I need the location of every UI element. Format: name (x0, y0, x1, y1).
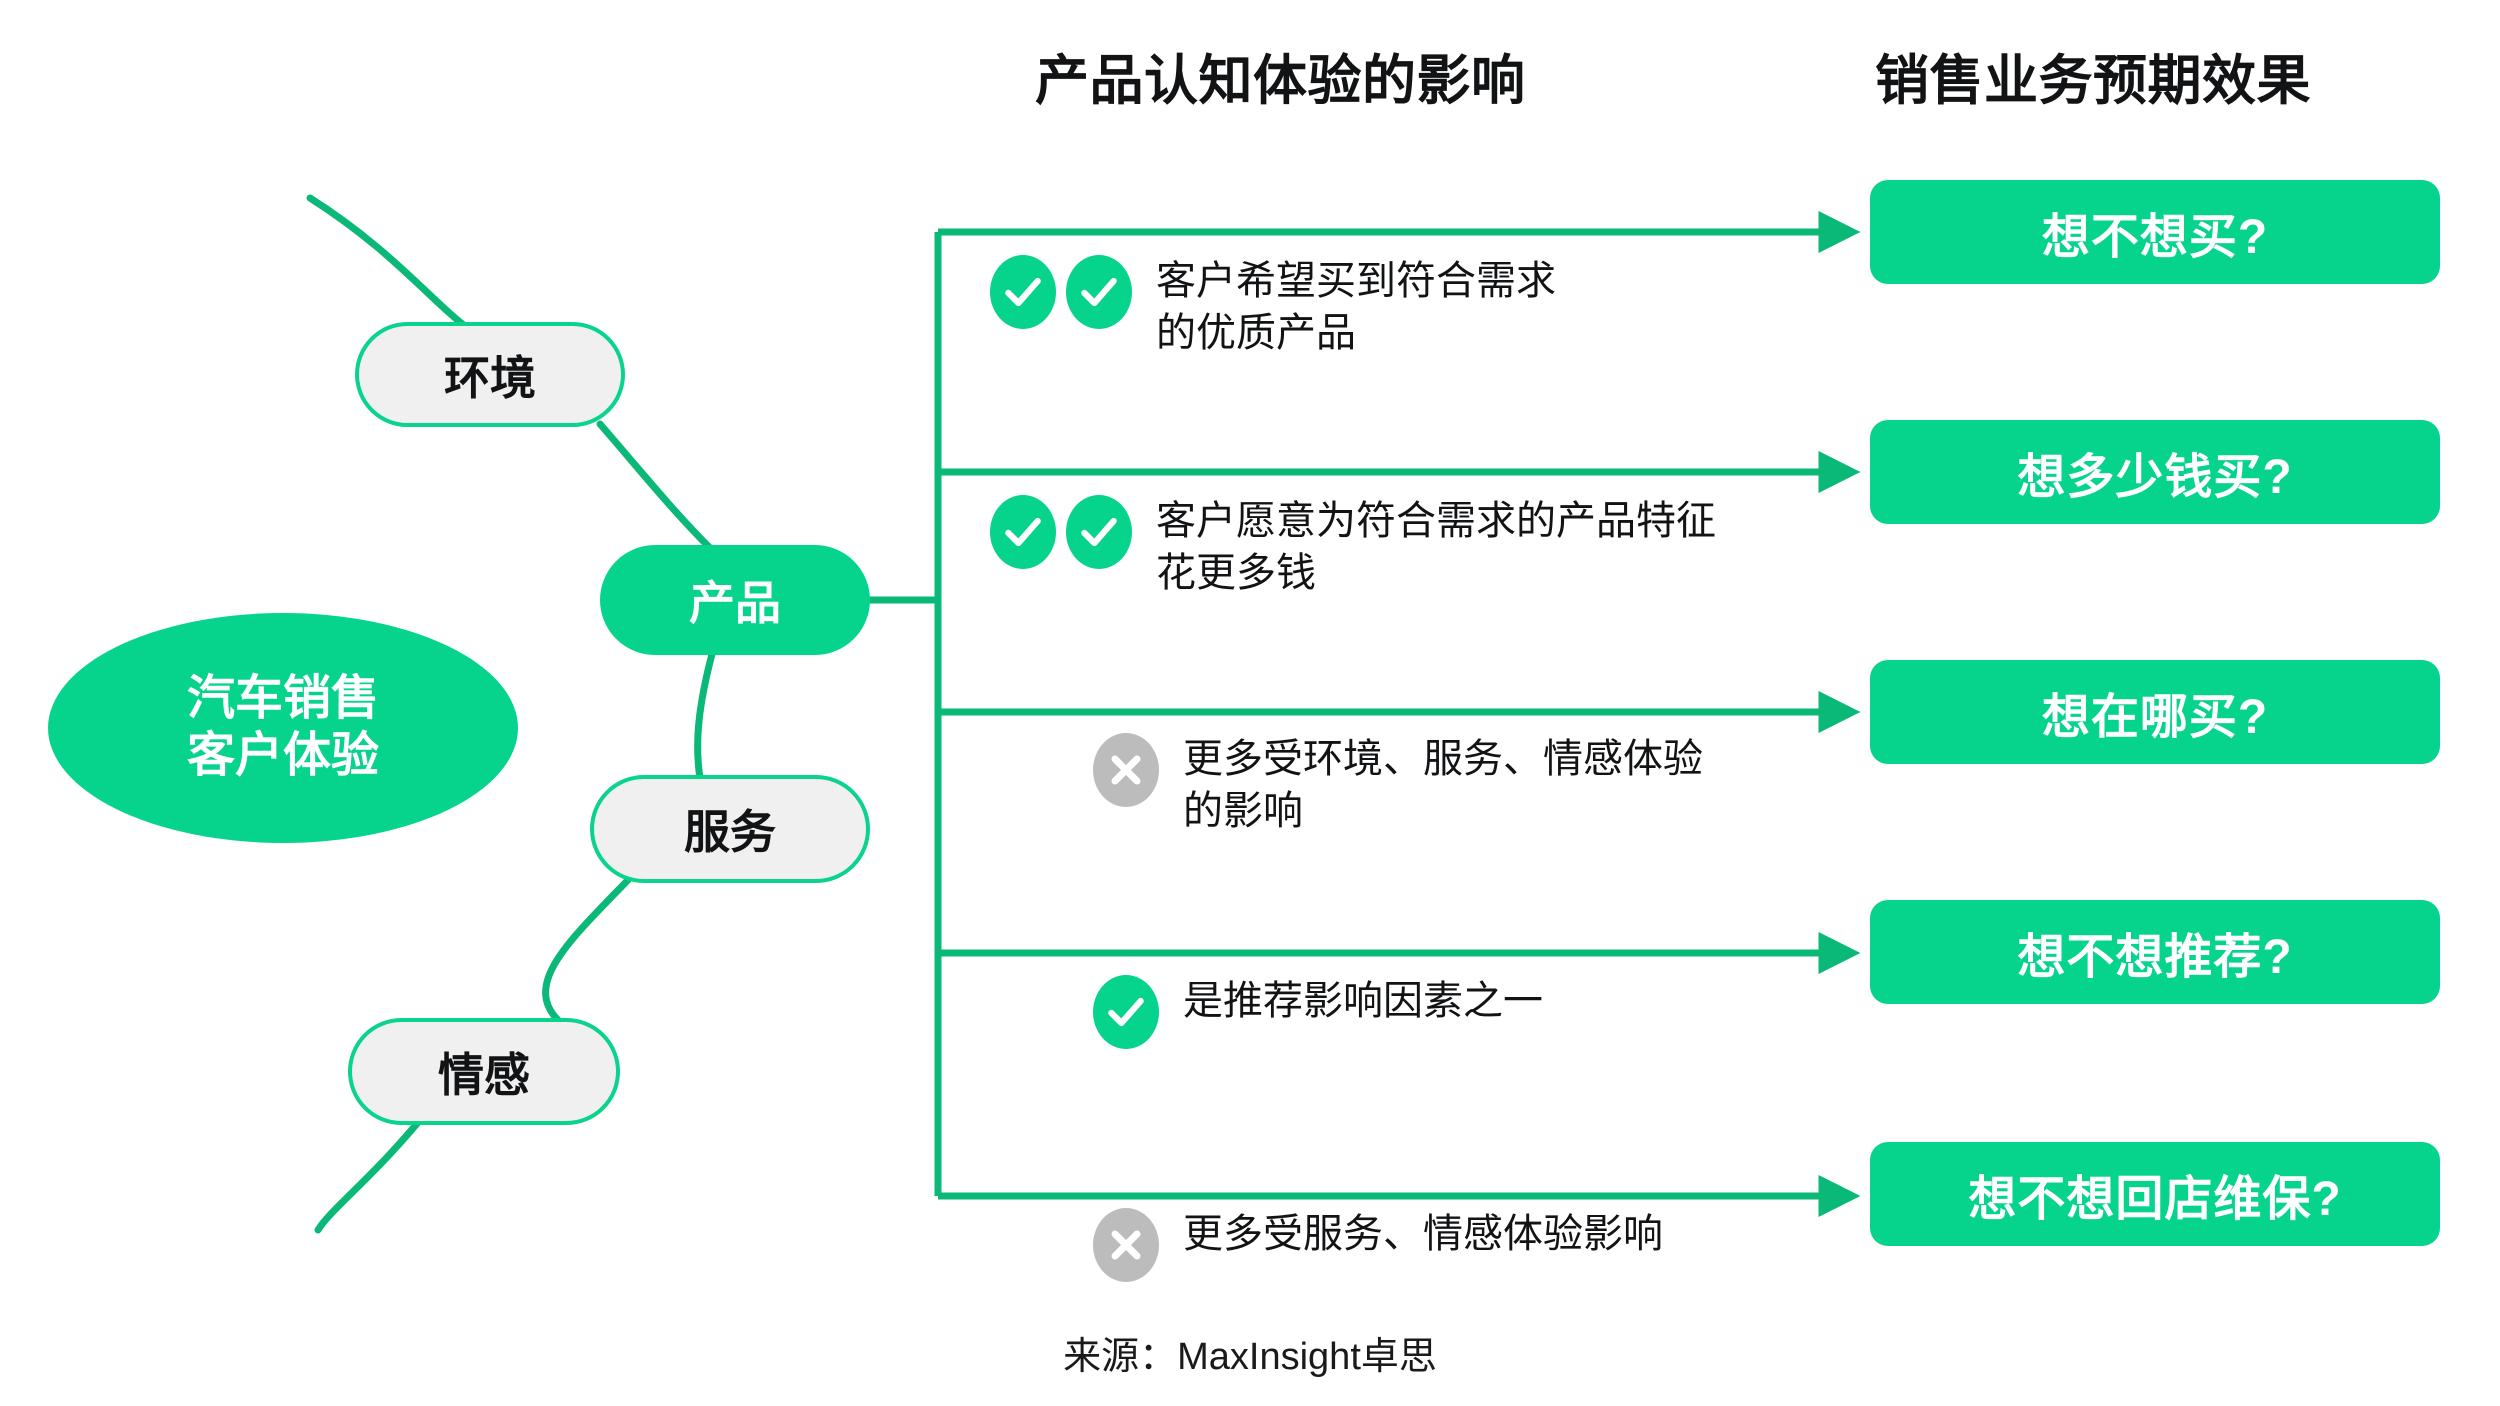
branch-node-label: 服务 (684, 796, 776, 862)
outcome-button-label: 想多少钱买? (2017, 437, 2292, 507)
impact-row-text: 客户希望买到符合需求 的优质产品 (1156, 255, 1556, 359)
branch-node-qinggan[interactable]: 情感 (348, 1018, 620, 1125)
outcome-button-want-to-buy[interactable]: 想不想买? (1870, 180, 2440, 284)
impact-row-icons (1093, 975, 1169, 1049)
outcome-button-recommend[interactable]: 想不想推荐? (1870, 900, 2440, 1004)
root-node-auto-sales-cx[interactable]: 汽车销售 客户体验 (48, 613, 518, 843)
impact-row-icons (990, 495, 1142, 569)
column-header-impact: 产品认知体验的影响 (1035, 36, 1526, 115)
impact-row: 更多受环境、服务、情感体验 的影响 (1093, 733, 1703, 837)
branch-node-huanjing[interactable]: 环境 (355, 322, 625, 427)
outcome-button-label: 想不想推荐? (2017, 917, 2292, 987)
outcome-button-label: 想不想买? (2042, 197, 2268, 267)
branch-node-fuwu[interactable]: 服务 (590, 775, 870, 883)
outcome-button-where-to-buy[interactable]: 想在哪买? (1870, 660, 2440, 764)
cross-icon (1093, 733, 1159, 807)
check-icon (990, 495, 1056, 569)
root-node-line-2: 客户体验 (187, 728, 379, 785)
impact-row-icons (990, 255, 1142, 329)
branch-curve-bottom (318, 1120, 420, 1230)
impact-row-icons (1093, 733, 1169, 807)
check-icon (1066, 495, 1132, 569)
check-icon (1066, 255, 1132, 329)
check-icon (1093, 975, 1159, 1049)
mindmap-diagram: 产品认知体验的影响 销售业务预期效果 汽车销售 客户体验 环境 产品 服务 情感… (0, 0, 2500, 1406)
outcome-button-label: 想不想回店维保? (1968, 1159, 2341, 1229)
impact-row: 客户愿意为符合需求的产品特征 花更多钱 (990, 495, 1716, 599)
impact-row: 客户希望买到符合需求 的优质产品 (990, 255, 1556, 359)
impact-row-text: 是推荐影响因素之一 (1183, 975, 1543, 1027)
outcome-button-how-much[interactable]: 想多少钱买? (1870, 420, 2440, 524)
branch-curve-chanpin-fuwu (698, 654, 712, 778)
cross-icon (1093, 1208, 1159, 1282)
outcome-button-label: 想在哪买? (2042, 677, 2268, 747)
branch-curve-fuwu-qinggan (546, 880, 628, 1022)
source-note: 来源：MaxInsight卓思 (0, 1325, 2500, 1380)
root-node-line-1: 汽车销售 (187, 671, 379, 728)
branch-node-chanpin[interactable]: 产品 (600, 545, 870, 655)
impact-row: 更多受服务、情感体验影响 (1093, 1208, 1663, 1282)
impact-row-icons (1093, 1208, 1169, 1282)
branch-node-label: 环境 (444, 342, 536, 408)
branch-node-label: 情感 (438, 1039, 530, 1105)
impact-row-text: 更多受服务、情感体验影响 (1183, 1208, 1663, 1260)
check-icon (990, 255, 1056, 329)
branch-curve-huanjing-chanpin (600, 424, 710, 548)
impact-row-text: 更多受环境、服务、情感体验 的影响 (1183, 733, 1703, 837)
impact-row: 是推荐影响因素之一 (1093, 975, 1543, 1049)
impact-row-text: 客户愿意为符合需求的产品特征 花更多钱 (1156, 495, 1716, 599)
branch-curve-top (310, 198, 470, 330)
column-header-effect: 销售业务预期效果 (1875, 36, 2311, 115)
outcome-button-return-service[interactable]: 想不想回店维保? (1870, 1142, 2440, 1246)
branch-node-label: 产品 (689, 567, 781, 633)
